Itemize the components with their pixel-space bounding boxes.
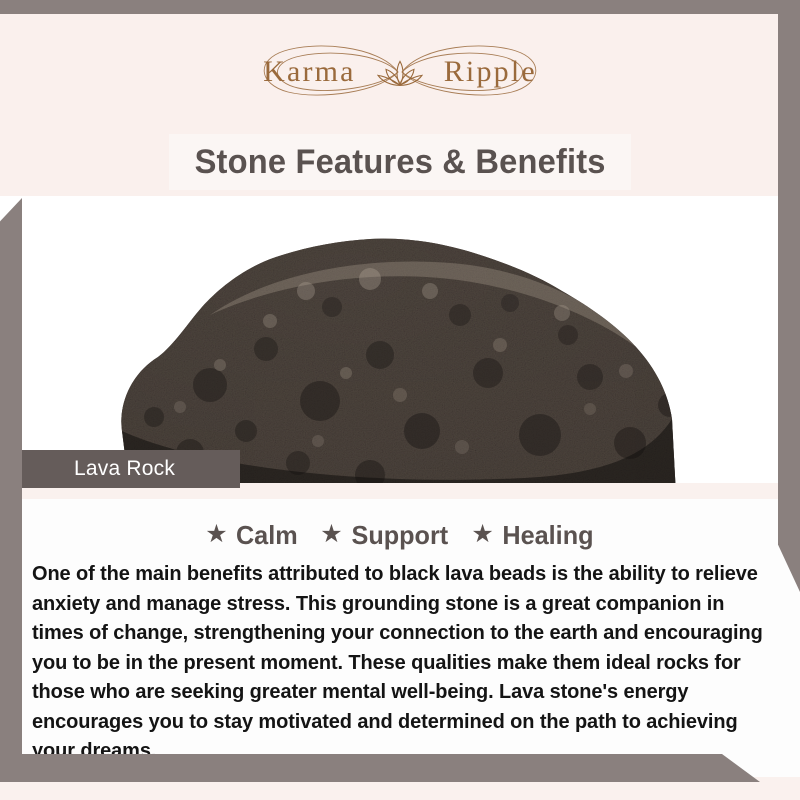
brand-name-right: Ripple	[444, 55, 537, 89]
keyword-item: ★ Support	[320, 520, 449, 551]
photo-caption-text: Lava Rock	[22, 457, 175, 481]
keyword-list: ★ Calm ★ Support ★ Healing	[0, 499, 800, 551]
title-panel: Stone Features & Benefits	[169, 134, 631, 190]
brand-logo: Karma Ripple	[240, 39, 560, 105]
keyword-label: Support	[351, 520, 448, 551]
star-icon: ★	[471, 522, 493, 547]
header: Karma Ripple	[0, 14, 800, 130]
brand-name-left: Karma	[263, 55, 356, 89]
keyword-label: Healing	[502, 520, 593, 551]
keyword-item: ★ Healing	[471, 520, 594, 551]
page-title: Stone Features & Benefits	[194, 143, 605, 182]
content-panel: ★ Calm ★ Support ★ Healing One of the ma…	[0, 499, 800, 777]
frame-bottom-band	[0, 754, 760, 782]
frame-left-band	[0, 198, 22, 782]
photo-caption-banner: Lava Rock	[22, 450, 240, 488]
frame-right-band	[778, 0, 800, 592]
star-icon: ★	[320, 522, 342, 547]
keyword-label: Calm	[236, 520, 298, 551]
lava-rock-image	[70, 195, 730, 483]
keyword-item: ★ Calm	[205, 520, 298, 551]
stone-photo	[0, 195, 800, 483]
frame-top-band	[0, 0, 800, 14]
star-icon: ★	[205, 522, 227, 547]
benefits-paragraph: One of the main benefits attributed to b…	[32, 560, 771, 767]
lotus-icon	[377, 56, 423, 90]
infographic-card: Karma Ripple Stone Features & Benefits	[0, 0, 800, 800]
